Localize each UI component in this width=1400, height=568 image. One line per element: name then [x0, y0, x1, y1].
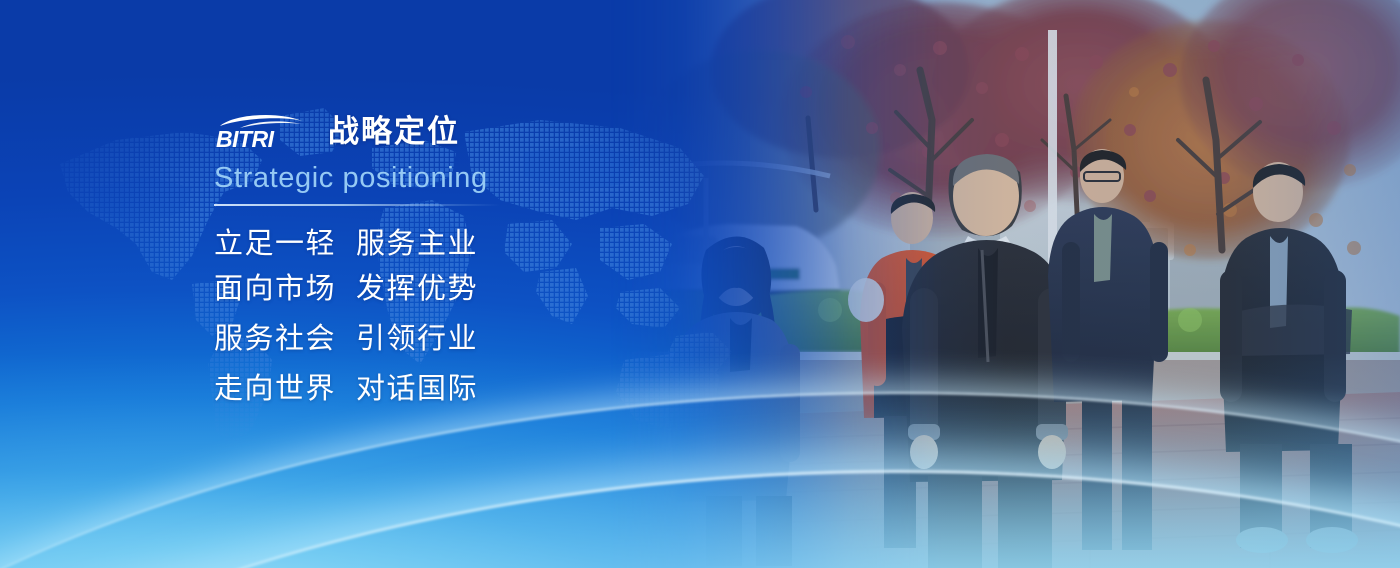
slogan-right: 服务主业 [356, 230, 478, 259]
slogan-right: 对话国际 [356, 375, 478, 404]
svg-text:BITRI: BITRI [216, 126, 275, 151]
slogan-left: 立足一轻 [214, 230, 356, 259]
slogan-right: 发挥优势 [356, 275, 478, 304]
slogan-right: 引领行业 [356, 325, 478, 354]
slogan-line: 面向市场 发挥优势 [214, 275, 634, 304]
slogan-line: 走向世界 对话国际 [214, 375, 634, 404]
slogan-left: 走向世界 [214, 375, 356, 404]
title-row: BITRI 战略定位 [214, 108, 634, 154]
title-divider [214, 204, 500, 206]
slogan-line: 服务社会 引领行业 [214, 325, 634, 354]
slogan-line: 立足一轻 服务主业 [214, 230, 634, 259]
strategic-positioning-banner: Group of officials walking along a campu… [0, 0, 1400, 568]
banner-subtitle-en: Strategic positioning [214, 162, 634, 195]
slogan-left: 面向市场 [214, 275, 356, 304]
slogan-list: 立足一轻 服务主业 面向市场 发挥优势 服务社会 引领行业 走向世界 对话国际 [214, 230, 634, 404]
banner-title-cn: 战略定位 [328, 116, 460, 147]
banner-text-block: BITRI 战略定位 Strategic positioning 立足一轻 服务… [214, 108, 634, 404]
slogan-left: 服务社会 [214, 325, 356, 354]
bitri-logo: BITRI [214, 111, 314, 151]
campus-walk-photo: Group of officials walking along a campu… [610, 0, 1400, 568]
